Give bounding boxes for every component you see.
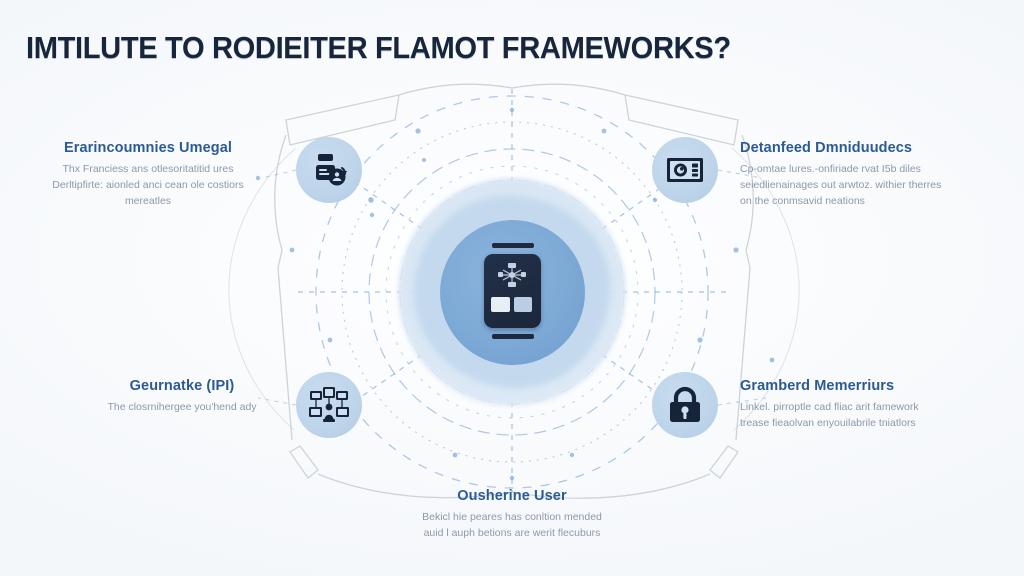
label-body-line: mereatles [28,194,268,210]
label-heading: Erarincoumnies Umegal [28,140,268,157]
label-block-bottom-left: Geurnatke (IPI) The closrnihergee you'he… [62,378,302,416]
label-body-line: on the conmsavid neations [740,194,990,210]
label-heading: Detanfeed Dmniduudecs [740,140,990,157]
label-body-line: trease fieaolvan enyouilabrile tniatlors [740,416,990,432]
hub-bar-top [492,243,534,248]
id-card-banknote-icon[interactable] [652,137,718,203]
person-card-refresh-icon[interactable] [296,137,362,203]
label-heading: Ousherine User [367,488,657,505]
label-block-bottom-right: Gramberd Memerriurs Linkel. pirroptle ca… [740,378,990,432]
label-body-line: auid l auph betions are werit flecuburs [367,526,657,542]
label-heading: Gramberd Memerriurs [740,378,990,395]
label-body-line: The closrnihergee you'hend ady [62,400,302,416]
padlock-security-icon[interactable] [652,372,718,438]
hub-bar-bottom [492,334,534,339]
label-body-line: Bekicl hie peares has conltion mended [367,510,657,526]
hub-chip-blue [514,297,532,312]
label-body-line: seiedlienainages out arwtoz. withier the… [740,178,990,194]
label-block-top-right: Detanfeed Dmniduudecs Cp-omtae lures.-on… [740,140,990,210]
label-body-line: Cp-omtae lures.-onfiriade rvat I5b diles [740,162,990,178]
hub-chip-light [491,297,510,312]
infographic-canvas: IMTILUTE TO RODIEITER FLAMOT FRAMEWORKS? [0,0,1024,576]
network-nodes-glyph [494,262,530,288]
label-body-line: Derltipfirte: aionled anci cean ole cost… [28,178,268,194]
label-body-line: Thx Franciess ans otlesoritatitid ures [28,162,268,178]
label-block-bottom-center: Ousherine User Bekicl hie peares has con… [367,488,657,542]
label-heading: Geurnatke (IPI) [62,378,302,395]
label-block-top-left: Erarincoumnies Umegal Thx Franciess ans … [28,140,268,210]
connected-screens-network-icon[interactable] [296,372,362,438]
label-body-line: Linkel. pirroptle cad fliac arit famewor… [740,400,990,416]
